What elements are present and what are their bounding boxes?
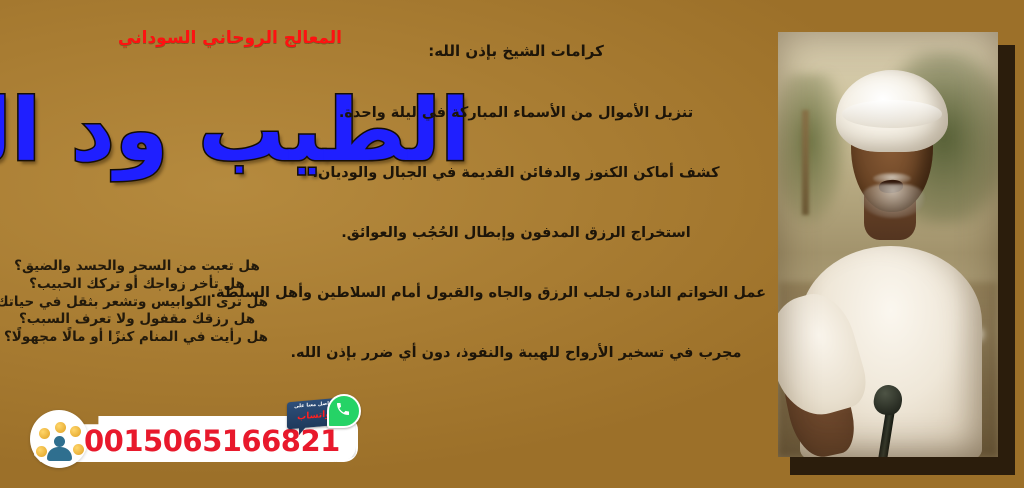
- beard: [862, 184, 924, 218]
- person-head-icon: [54, 436, 65, 447]
- coin-icon: [36, 446, 47, 457]
- questions-block: هل تعبت من السحر والحسد والضيق؟ هل تأخر …: [6, 258, 268, 347]
- coin-icon: [70, 426, 81, 437]
- sheikh-photo: [778, 32, 998, 457]
- coin-icon: [73, 444, 84, 455]
- coin-icon: [55, 422, 66, 433]
- question-line: هل رأيت في المنام كنزًا أو مالًا مجهولًا…: [6, 329, 268, 347]
- photo-background: [778, 32, 998, 457]
- service-item: مجرب في تسخير الأرواح للهيبة والنفوذ، دو…: [266, 345, 766, 361]
- poster-root: المعالج الروحاني السوداني الطيب ود النور…: [0, 0, 1024, 488]
- service-item: كشف أماكن الكنوز والدفائن القديمة في الج…: [266, 165, 766, 181]
- palm-trunk: [802, 110, 809, 215]
- service-item: تنزيل الأموال من الأسماء المباركة في ليل…: [266, 105, 766, 121]
- question-line: هل رزقك مقفول ولا تعرف السبب؟: [6, 311, 268, 329]
- coin-icon: [39, 428, 50, 439]
- question-line: هل تعبت من السحر والحسد والضيق؟: [6, 258, 268, 276]
- services-title: كرامات الشيخ بإذن الله:: [266, 42, 766, 60]
- whatsapp-callout[interactable]: تواصل معنا على واتساب: [287, 396, 357, 436]
- money-people-icon: [30, 410, 88, 468]
- tree-left: [778, 74, 846, 224]
- person-body-icon: [47, 447, 72, 461]
- services-block: كرامات الشيخ بإذن الله: تنزيل الأموال من…: [266, 42, 766, 361]
- service-item: استخراج الرزق المدفون وإبطال الحُجُب وال…: [266, 225, 766, 241]
- service-item: عمل الخواتم النادرة لجلب الرزق والجاه وا…: [266, 285, 766, 301]
- phone-handset-icon: [335, 401, 351, 417]
